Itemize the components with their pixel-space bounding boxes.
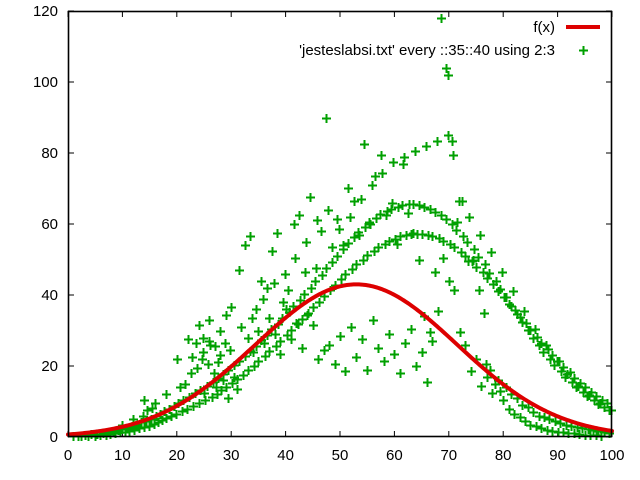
legend-label: 'jesteslabsi.txt' every ::35::40 using 2… [299,42,555,59]
x-axis-tick-label: 80 [495,447,512,464]
chart-container: 0204060801001200102030405060708090100f(x… [0,0,640,480]
x-axis-tick-label: 30 [223,447,240,464]
x-axis-tick-label: 70 [440,447,457,464]
x-axis-tick-label: 100 [599,447,624,464]
plot-area-background [68,11,612,437]
x-axis-tick-label: 10 [114,447,131,464]
gnuplot-scatter-chart: 0204060801001200102030405060708090100f(x… [0,0,640,480]
y-axis-tick-label: 80 [41,145,58,162]
y-axis-tick-label: 60 [41,216,58,233]
x-axis-tick-label: 60 [386,447,403,464]
x-axis-tick-label: 20 [168,447,185,464]
y-axis-tick-label: 20 [41,358,58,375]
legend-label: f(x) [533,19,555,36]
x-axis-tick-label: 90 [549,447,566,464]
y-axis-tick-label: 0 [50,429,58,446]
x-axis-tick-label: 50 [332,447,349,464]
x-axis-tick-label: 40 [277,447,294,464]
y-axis-tick-label: 100 [33,74,58,91]
y-axis-tick-label: 120 [33,3,58,20]
x-axis-tick-label: 0 [64,447,72,464]
y-axis-tick-label: 40 [41,287,58,304]
